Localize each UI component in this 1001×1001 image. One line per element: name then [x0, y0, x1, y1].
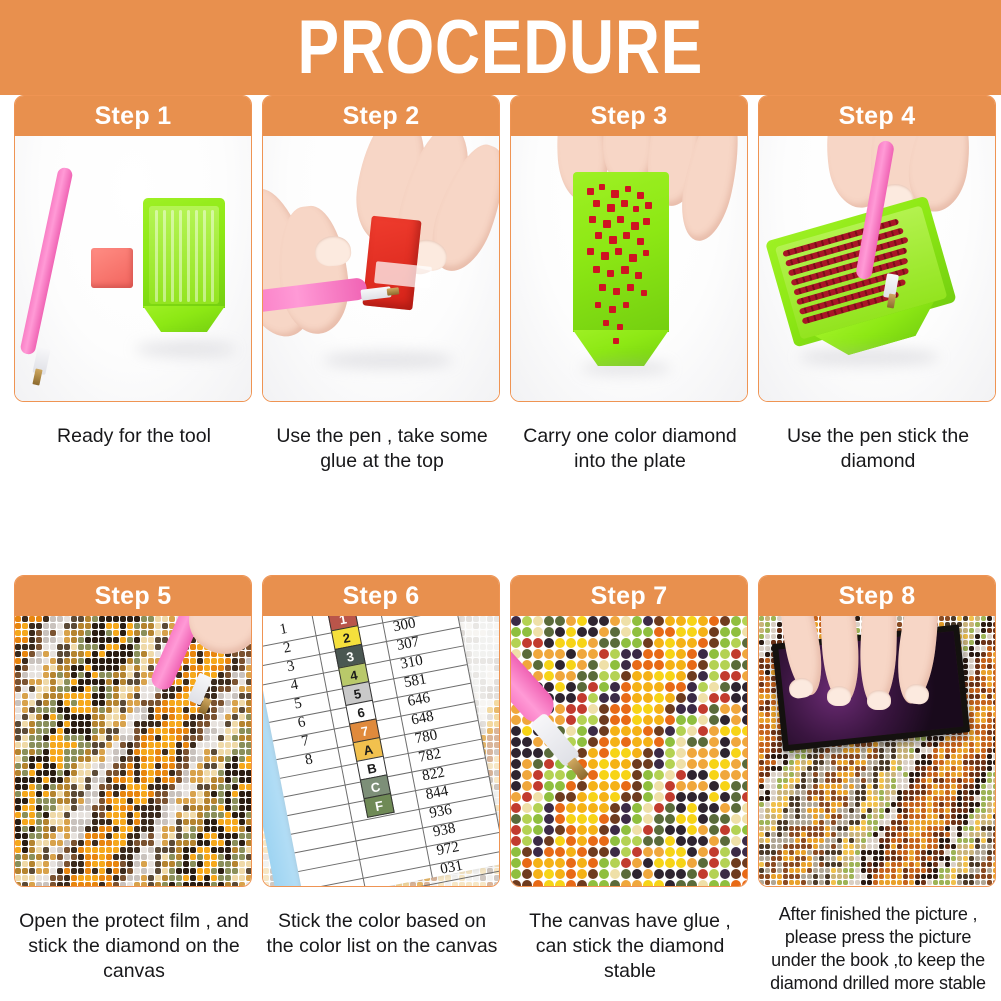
steps-grid: Step 1: [0, 95, 1001, 1001]
step-1-photo: [15, 136, 251, 401]
step-7-caption: The canvas have glue , can stick the dia…: [510, 909, 750, 984]
red-diamonds-group-icon: [573, 172, 669, 372]
step-2-caption: Use the pen , take some glue at the top: [262, 424, 502, 474]
step-card-7: Step 7 The canvas have glue , can stick …: [510, 575, 750, 984]
step-8-card-frame: Step 8: [758, 575, 996, 887]
green-tray-icon: [143, 198, 225, 348]
step-1-header: Step 1: [15, 96, 251, 136]
color-code-chart: Serial Symbol DMC 1122300333074431055581…: [263, 616, 499, 886]
step-8-header: Step 8: [759, 576, 995, 616]
step-3-card-frame: Step 3: [510, 95, 748, 402]
step-5-caption: Open the protect film , and stick the di…: [14, 909, 254, 984]
chart-paper-sheet: Serial Symbol DMC 1122300333074431055581…: [263, 616, 499, 886]
page-header-banner: PROCEDURE: [0, 0, 1001, 95]
step-5-header: Step 5: [15, 576, 251, 616]
step-1-label: Step 1: [95, 102, 172, 131]
step-6-header: Step 6: [263, 576, 499, 616]
step-card-6: Step 6 Serial Symbol DMC 11223003330: [262, 575, 502, 959]
step-4-header: Step 4: [759, 96, 995, 136]
step-3-caption: Carry one color diamond into the plate: [510, 424, 750, 474]
step-card-4: Step 4: [758, 95, 998, 474]
step-3-header: Step 3: [511, 96, 747, 136]
page-title: PROCEDURE: [298, 10, 704, 86]
step-6-caption: Stick the color based on the color list …: [262, 909, 502, 959]
step-7-label: Step 7: [591, 582, 668, 611]
step-2-header: Step 2: [263, 96, 499, 136]
step-4-caption: Use the pen stick the diamond: [758, 424, 998, 474]
step-2-photo: [263, 136, 499, 401]
glue-square-icon: [91, 248, 133, 288]
step-5-photo: [15, 616, 251, 886]
step-4-card-frame: Step 4: [758, 95, 996, 402]
step-card-8: Step 8 After finished the: [758, 575, 998, 995]
step-7-card-frame: Step 7: [510, 575, 748, 887]
step-4-photo: [759, 136, 995, 401]
step-1-card-frame: Step 1: [14, 95, 252, 402]
step-8-caption: After finished the picture , please pres…: [758, 903, 998, 995]
step-card-2: Step 2: [262, 95, 502, 474]
steps-row-2: Step 5 Open the protect film , and stick…: [0, 575, 1001, 1001]
step-6-card-frame: Step 6 Serial Symbol DMC 11223003330: [262, 575, 500, 887]
step-2-label: Step 2: [343, 102, 420, 131]
step-7-header: Step 7: [511, 576, 747, 616]
steps-row-1: Step 1: [0, 95, 1001, 575]
step-3-label: Step 3: [591, 102, 668, 131]
step-card-5: Step 5 Open the protect film , and stick…: [14, 575, 254, 984]
step-5-label: Step 5: [95, 582, 172, 611]
step-card-3: Step 3: [510, 95, 750, 474]
step-6-label: Step 6: [343, 582, 420, 611]
macro-diamonds-canvas: [511, 616, 747, 886]
step-7-photo: [511, 616, 747, 886]
step-8-label: Step 8: [839, 582, 916, 611]
step-4-label: Step 4: [839, 102, 916, 131]
sunflower-mosaic-canvas: [15, 616, 251, 886]
step-6-photo: Serial Symbol DMC 1122300333074431055581…: [263, 616, 499, 886]
step-3-photo: [511, 136, 747, 401]
step-8-photo: [759, 616, 995, 886]
step-2-card-frame: Step 2: [262, 95, 500, 402]
step-1-caption: Ready for the tool: [14, 424, 254, 449]
step-card-1: Step 1: [14, 95, 254, 449]
step-5-card-frame: Step 5: [14, 575, 252, 887]
